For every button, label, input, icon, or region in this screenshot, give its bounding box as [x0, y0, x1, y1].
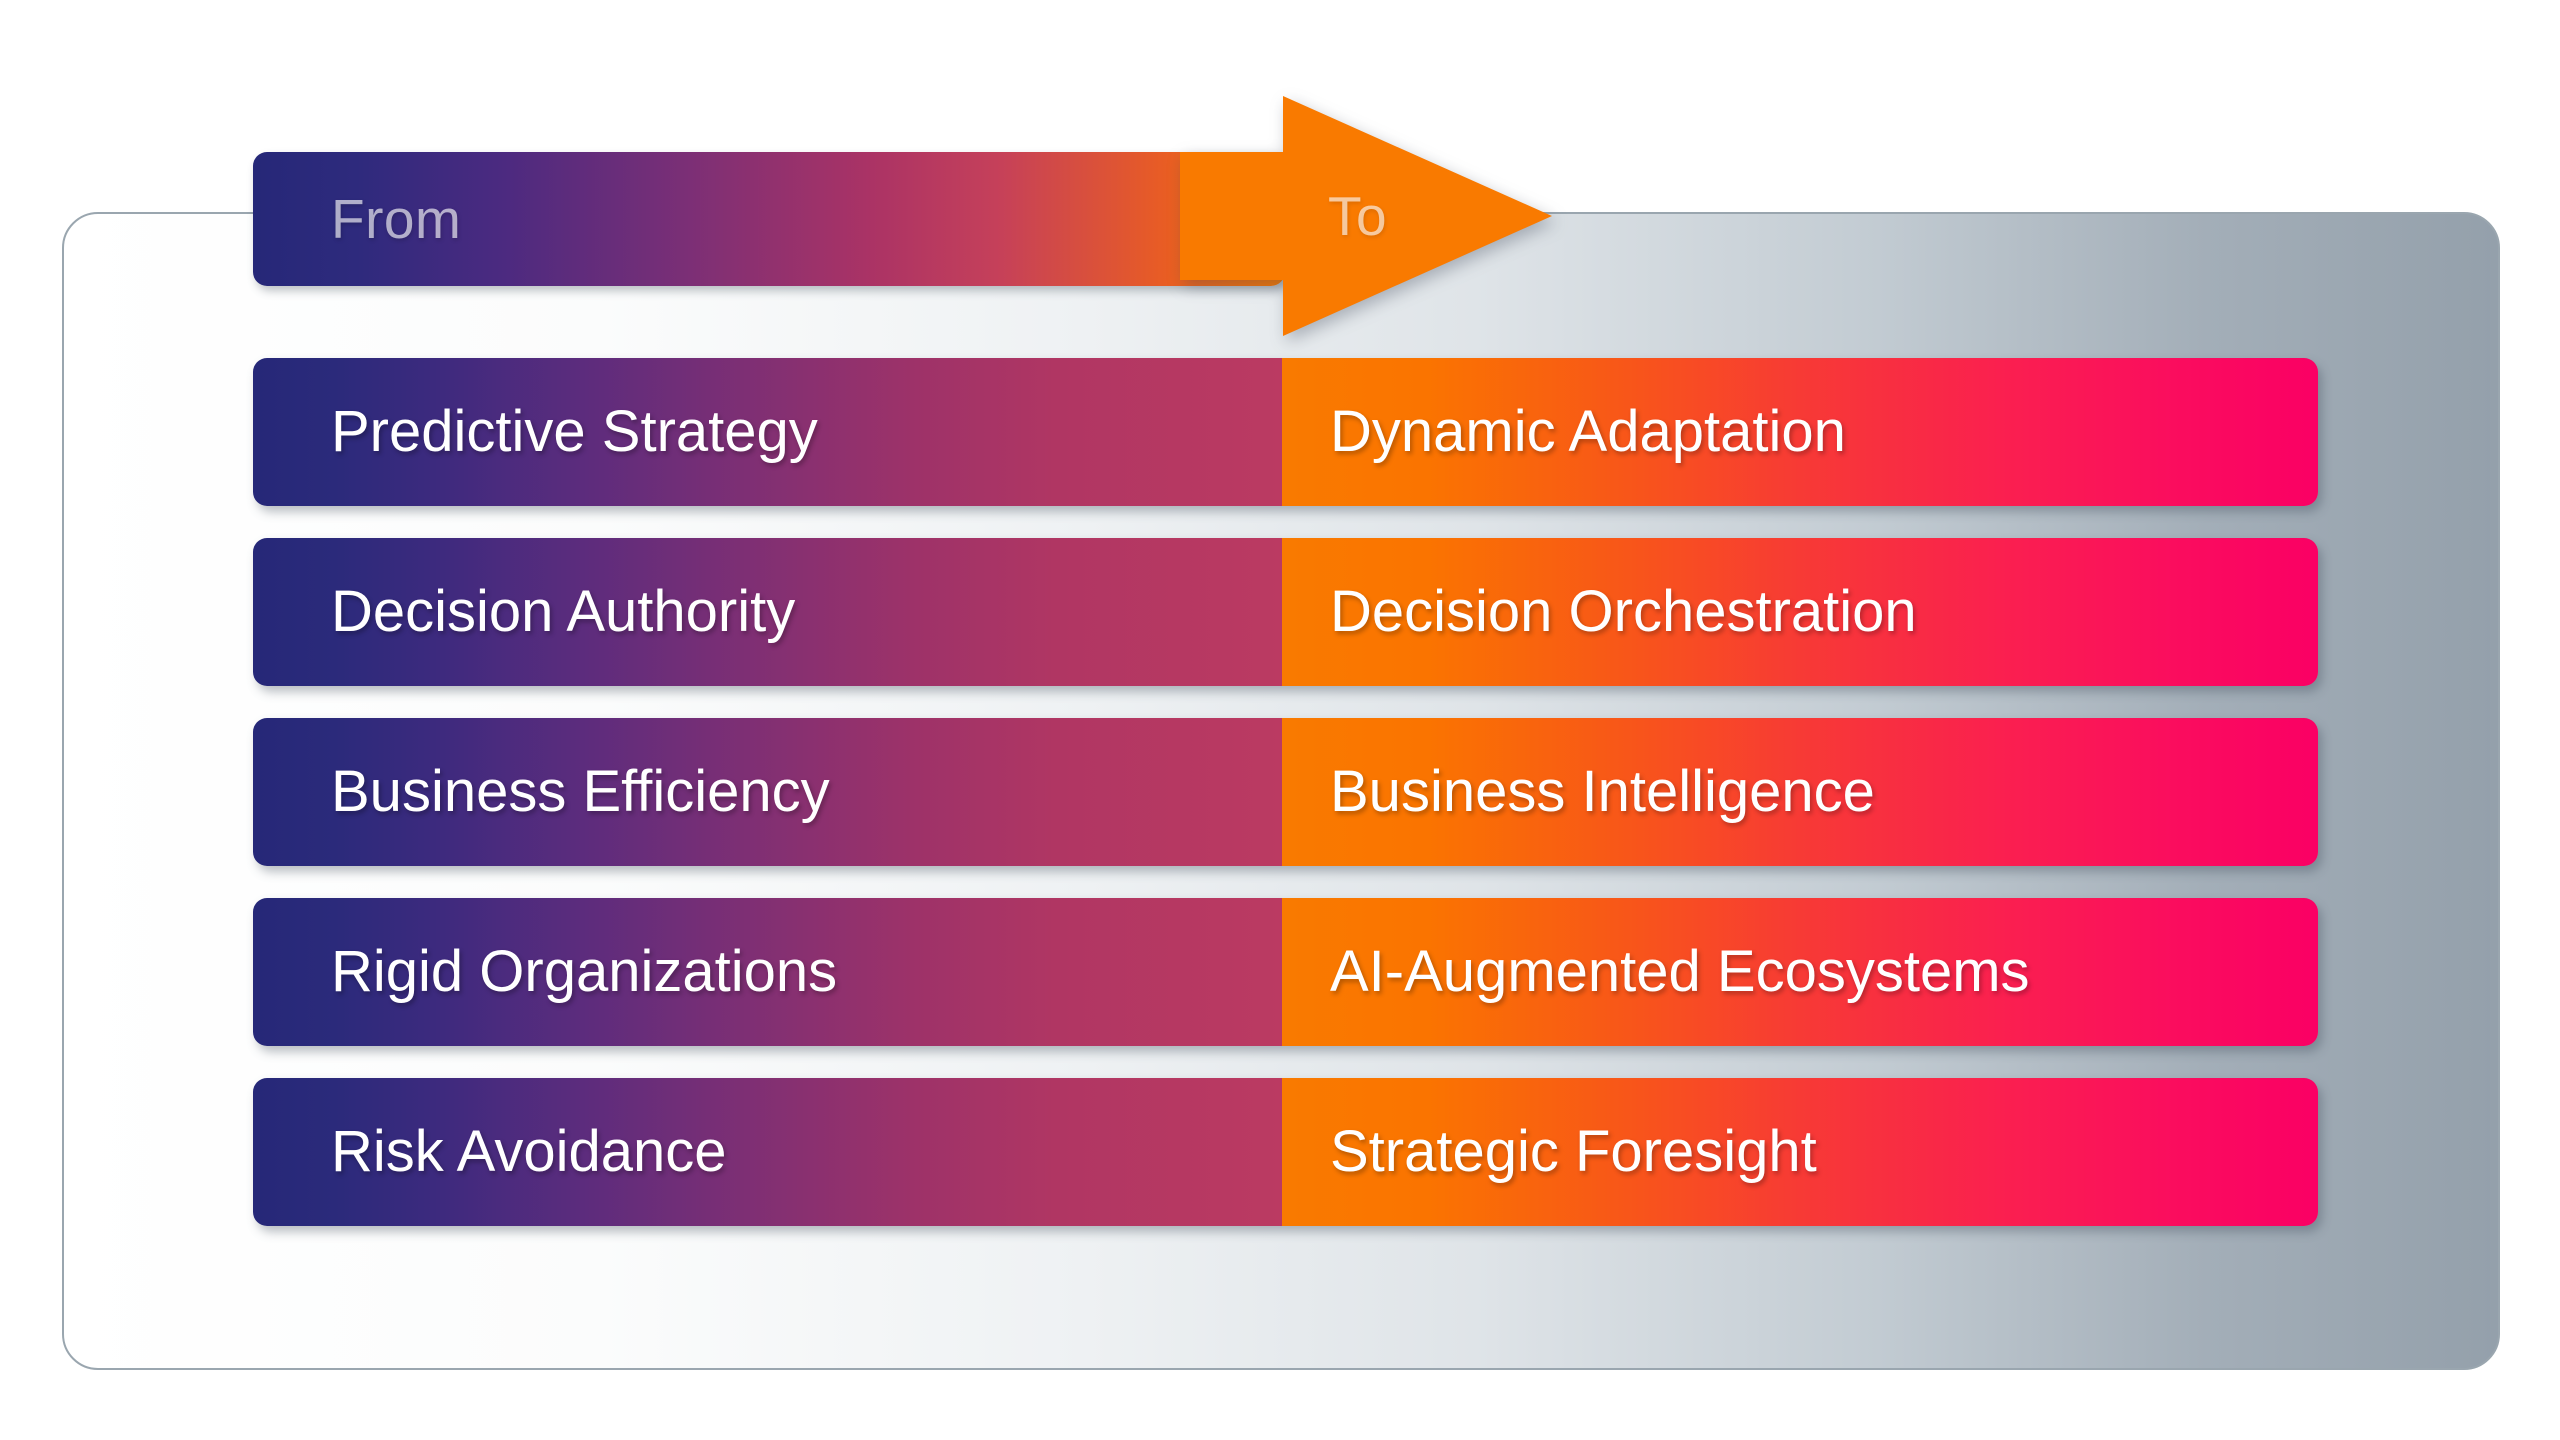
table-row[interactable]: Decision Authority Decision Orchestratio…	[253, 538, 2318, 686]
row-from-label: Business Efficiency	[331, 763, 830, 821]
row-from-cell: Decision Authority	[253, 538, 1282, 686]
row-from-cell: Predictive Strategy	[253, 358, 1282, 506]
from-column-header: From	[331, 187, 461, 251]
row-to-cell: AI-Augmented Ecosystems	[1282, 898, 2318, 1046]
row-to-label: Decision Orchestration	[1330, 583, 1917, 641]
row-from-cell: Rigid Organizations	[253, 898, 1282, 1046]
row-from-cell: Risk Avoidance	[253, 1078, 1282, 1226]
row-to-cell: Decision Orchestration	[1282, 538, 2318, 686]
table-row[interactable]: Predictive Strategy Dynamic Adaptation	[253, 358, 2318, 506]
arrow-shape	[1180, 96, 1552, 336]
row-from-cell: Business Efficiency	[253, 718, 1282, 866]
row-from-label: Rigid Organizations	[331, 943, 837, 1001]
header-band-from: From	[253, 152, 1285, 286]
table-row[interactable]: Business Efficiency Business Intelligenc…	[253, 718, 2318, 866]
row-from-label: Risk Avoidance	[331, 1123, 727, 1181]
row-from-label: Decision Authority	[331, 583, 795, 641]
row-to-label: Business Intelligence	[1330, 763, 1875, 821]
row-to-label: AI-Augmented Ecosystems	[1330, 943, 2030, 1001]
diagram-stage: From To Predictive Strategy Dynamic Adap…	[0, 0, 2560, 1440]
row-from-label: Predictive Strategy	[331, 403, 818, 461]
transition-arrow-icon: To	[1180, 96, 1552, 336]
row-to-cell: Dynamic Adaptation	[1282, 358, 2318, 506]
row-to-cell: Strategic Foresight	[1282, 1078, 2318, 1226]
table-row[interactable]: Risk Avoidance Strategic Foresight	[253, 1078, 2318, 1226]
table-row[interactable]: Rigid Organizations AI-Augmented Ecosyst…	[253, 898, 2318, 1046]
row-to-label: Dynamic Adaptation	[1330, 403, 1846, 461]
row-to-cell: Business Intelligence	[1282, 718, 2318, 866]
row-to-label: Strategic Foresight	[1330, 1123, 1817, 1181]
